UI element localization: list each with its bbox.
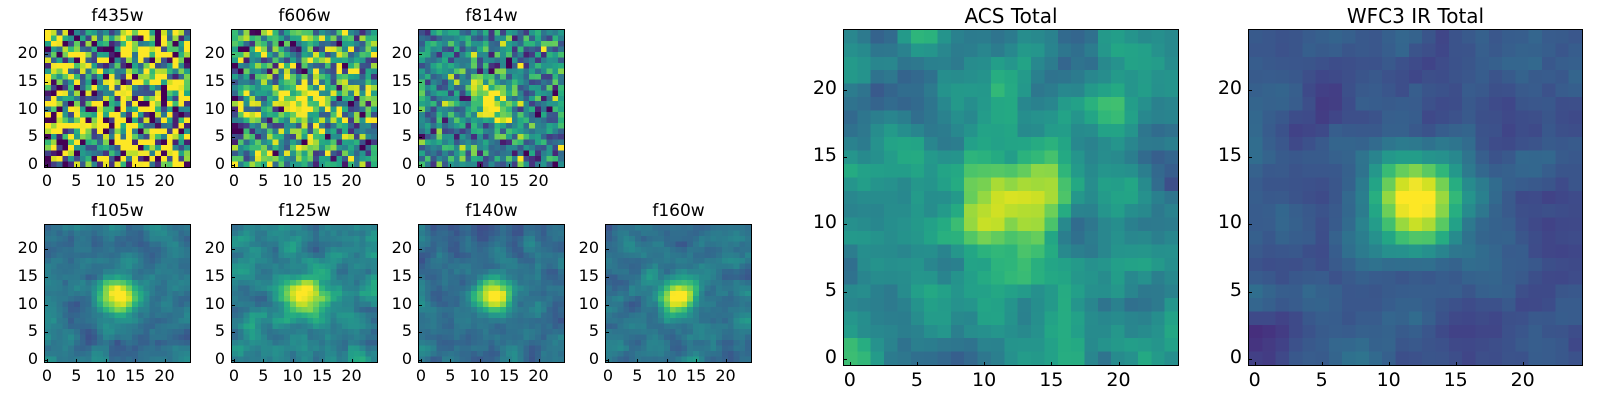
y-tick-f140w-4 bbox=[418, 249, 422, 250]
panel-f814w: f814w0510152005101520 bbox=[418, 6, 565, 168]
panel-title-wfc3-ir-total: WFC3 IR Total bbox=[1248, 4, 1583, 28]
x-tick-f814w-3 bbox=[509, 164, 510, 168]
x-tick-label-f105w-4: 20 bbox=[145, 366, 185, 385]
y-tick-label-f814w-2: 10 bbox=[370, 99, 412, 118]
panel-f140w: f140w0510152005101520 bbox=[418, 201, 565, 363]
y-tick-f105w-4 bbox=[44, 249, 48, 250]
x-tick-f606w-4 bbox=[352, 164, 353, 168]
plot-area-f435w bbox=[44, 29, 191, 168]
y-tick-label-f105w-2: 10 bbox=[0, 294, 38, 313]
x-tick-acs-total-0 bbox=[850, 362, 851, 366]
panel-f435w: f435w0510152005101520 bbox=[44, 6, 191, 168]
y-tick-f140w-0 bbox=[418, 360, 422, 361]
y-tick-label-f160w-1: 5 bbox=[557, 321, 599, 340]
y-tick-label-f125w-3: 15 bbox=[183, 266, 225, 285]
x-tick-label-wfc3-ir-total-3: 15 bbox=[1436, 369, 1476, 391]
x-tick-f140w-3 bbox=[509, 359, 510, 363]
y-tick-label-acs-total-2: 10 bbox=[795, 211, 837, 233]
x-tick-acs-total-3 bbox=[1051, 362, 1052, 366]
x-tick-f606w-2 bbox=[293, 164, 294, 168]
y-tick-label-f125w-4: 20 bbox=[183, 238, 225, 257]
y-tick-label-f814w-4: 20 bbox=[370, 43, 412, 62]
x-tick-wfc3-ir-total-0 bbox=[1255, 362, 1256, 366]
x-tick-f160w-4 bbox=[726, 359, 727, 363]
y-tick-f814w-2 bbox=[418, 110, 422, 111]
y-tick-label-f160w-3: 15 bbox=[557, 266, 599, 285]
y-tick-f814w-4 bbox=[418, 54, 422, 55]
y-tick-label-wfc3-ir-total-1: 5 bbox=[1200, 279, 1242, 301]
x-tick-f435w-2 bbox=[106, 164, 107, 168]
y-tick-f160w-3 bbox=[605, 277, 609, 278]
y-tick-f606w-3 bbox=[231, 82, 235, 83]
x-tick-label-acs-total-1: 5 bbox=[897, 369, 937, 391]
y-tick-f435w-0 bbox=[44, 165, 48, 166]
y-tick-f814w-0 bbox=[418, 165, 422, 166]
y-tick-label-f105w-0: 0 bbox=[0, 349, 38, 368]
y-tick-wfc3-ir-total-2 bbox=[1248, 224, 1252, 225]
x-tick-wfc3-ir-total-2 bbox=[1389, 362, 1390, 366]
y-tick-f814w-1 bbox=[418, 137, 422, 138]
heatmap-image-acs-total bbox=[844, 30, 1178, 365]
panel-f105w: f105w0510152005101520 bbox=[44, 201, 191, 363]
y-tick-label-f435w-3: 15 bbox=[0, 71, 38, 90]
x-tick-wfc3-ir-total-3 bbox=[1456, 362, 1457, 366]
y-tick-label-f606w-2: 10 bbox=[183, 99, 225, 118]
y-tick-label-f105w-3: 15 bbox=[0, 266, 38, 285]
y-tick-label-f160w-2: 10 bbox=[557, 294, 599, 313]
y-tick-f606w-1 bbox=[231, 137, 235, 138]
x-tick-f105w-2 bbox=[106, 359, 107, 363]
y-tick-wfc3-ir-total-3 bbox=[1248, 157, 1252, 158]
y-tick-f140w-3 bbox=[418, 277, 422, 278]
panel-title-f814w: f814w bbox=[418, 6, 565, 26]
y-tick-f160w-0 bbox=[605, 360, 609, 361]
panel-acs-total: ACS Total0510152005101520 bbox=[843, 4, 1179, 366]
plot-area-f160w bbox=[605, 224, 752, 363]
y-tick-f160w-4 bbox=[605, 249, 609, 250]
y-tick-label-f125w-2: 10 bbox=[183, 294, 225, 313]
x-tick-f160w-1 bbox=[637, 359, 638, 363]
y-tick-f140w-2 bbox=[418, 305, 422, 306]
x-tick-f606w-1 bbox=[263, 164, 264, 168]
y-tick-label-f814w-0: 0 bbox=[370, 154, 412, 173]
heatmap-image-f814w bbox=[419, 30, 564, 167]
x-tick-f125w-2 bbox=[293, 359, 294, 363]
y-tick-label-f435w-2: 10 bbox=[0, 99, 38, 118]
y-tick-f435w-3 bbox=[44, 82, 48, 83]
panel-title-f105w: f105w bbox=[44, 201, 191, 221]
x-tick-label-f814w-4: 20 bbox=[519, 171, 559, 190]
y-tick-f125w-4 bbox=[231, 249, 235, 250]
x-tick-f125w-4 bbox=[352, 359, 353, 363]
plot-area-f606w bbox=[231, 29, 378, 168]
y-tick-label-f105w-1: 5 bbox=[0, 321, 38, 340]
x-tick-f435w-1 bbox=[76, 164, 77, 168]
x-tick-label-wfc3-ir-total-2: 10 bbox=[1369, 369, 1409, 391]
y-tick-wfc3-ir-total-1 bbox=[1248, 292, 1252, 293]
y-tick-f160w-2 bbox=[605, 305, 609, 306]
figure-canvas: f435w0510152005101520f606w05101520051015… bbox=[0, 0, 1600, 400]
y-tick-f606w-2 bbox=[231, 110, 235, 111]
y-tick-f125w-1 bbox=[231, 332, 235, 333]
y-tick-f435w-1 bbox=[44, 137, 48, 138]
panel-title-f606w: f606w bbox=[231, 6, 378, 26]
x-tick-label-wfc3-ir-total-1: 5 bbox=[1302, 369, 1342, 391]
y-tick-f125w-2 bbox=[231, 305, 235, 306]
x-tick-label-f140w-4: 20 bbox=[519, 366, 559, 385]
y-tick-acs-total-3 bbox=[843, 157, 847, 158]
y-tick-f125w-3 bbox=[231, 277, 235, 278]
x-tick-f140w-1 bbox=[450, 359, 451, 363]
y-tick-f160w-1 bbox=[605, 332, 609, 333]
y-tick-label-f606w-1: 5 bbox=[183, 126, 225, 145]
y-tick-label-wfc3-ir-total-0: 0 bbox=[1200, 346, 1242, 368]
x-tick-f435w-4 bbox=[165, 164, 166, 168]
y-tick-label-acs-total-4: 20 bbox=[795, 77, 837, 99]
y-tick-label-f435w-0: 0 bbox=[0, 154, 38, 173]
x-tick-label-f125w-4: 20 bbox=[332, 366, 372, 385]
y-tick-f606w-0 bbox=[231, 165, 235, 166]
plot-area-acs-total bbox=[843, 29, 1179, 366]
x-tick-f105w-3 bbox=[135, 359, 136, 363]
y-tick-f105w-2 bbox=[44, 305, 48, 306]
y-tick-label-f140w-3: 15 bbox=[370, 266, 412, 285]
x-tick-label-acs-total-0: 0 bbox=[830, 369, 870, 391]
x-tick-label-f160w-4: 20 bbox=[706, 366, 746, 385]
x-tick-f435w-3 bbox=[135, 164, 136, 168]
x-tick-f125w-3 bbox=[322, 359, 323, 363]
heatmap-image-f435w bbox=[45, 30, 190, 167]
x-tick-f814w-1 bbox=[450, 164, 451, 168]
y-tick-label-acs-total-0: 0 bbox=[795, 346, 837, 368]
plot-area-f814w bbox=[418, 29, 565, 168]
y-tick-wfc3-ir-total-4 bbox=[1248, 90, 1252, 91]
x-tick-f160w-3 bbox=[696, 359, 697, 363]
heatmap-image-f606w bbox=[232, 30, 377, 167]
y-tick-label-f125w-0: 0 bbox=[183, 349, 225, 368]
y-tick-label-f140w-4: 20 bbox=[370, 238, 412, 257]
y-tick-label-f140w-0: 0 bbox=[370, 349, 412, 368]
x-tick-f105w-4 bbox=[165, 359, 166, 363]
y-tick-label-f606w-4: 20 bbox=[183, 43, 225, 62]
y-tick-f105w-1 bbox=[44, 332, 48, 333]
x-tick-f160w-2 bbox=[667, 359, 668, 363]
panel-title-f160w: f160w bbox=[605, 201, 752, 221]
x-tick-f125w-1 bbox=[263, 359, 264, 363]
y-tick-f140w-1 bbox=[418, 332, 422, 333]
y-tick-acs-total-0 bbox=[843, 359, 847, 360]
x-tick-acs-total-2 bbox=[984, 362, 985, 366]
x-tick-label-acs-total-4: 20 bbox=[1099, 369, 1139, 391]
plot-area-f140w bbox=[418, 224, 565, 363]
x-tick-f814w-4 bbox=[539, 164, 540, 168]
y-tick-label-f435w-4: 20 bbox=[0, 43, 38, 62]
plot-area-f125w bbox=[231, 224, 378, 363]
y-tick-label-wfc3-ir-total-3: 15 bbox=[1200, 144, 1242, 166]
y-tick-label-f435w-1: 5 bbox=[0, 126, 38, 145]
x-tick-wfc3-ir-total-4 bbox=[1523, 362, 1524, 366]
x-tick-f105w-1 bbox=[76, 359, 77, 363]
heatmap-image-f140w bbox=[419, 225, 564, 362]
x-tick-acs-total-1 bbox=[917, 362, 918, 366]
y-tick-label-f814w-1: 5 bbox=[370, 126, 412, 145]
heatmap-image-f125w bbox=[232, 225, 377, 362]
y-tick-label-f814w-3: 15 bbox=[370, 71, 412, 90]
y-tick-wfc3-ir-total-0 bbox=[1248, 359, 1252, 360]
panel-f160w: f160w0510152005101520 bbox=[605, 201, 752, 363]
y-tick-f435w-4 bbox=[44, 54, 48, 55]
y-tick-label-acs-total-1: 5 bbox=[795, 279, 837, 301]
y-tick-f105w-0 bbox=[44, 360, 48, 361]
y-tick-label-acs-total-3: 15 bbox=[795, 144, 837, 166]
y-tick-label-f140w-1: 5 bbox=[370, 321, 412, 340]
y-tick-acs-total-2 bbox=[843, 224, 847, 225]
x-tick-f814w-2 bbox=[480, 164, 481, 168]
plot-area-wfc3-ir-total bbox=[1248, 29, 1583, 366]
x-tick-f140w-2 bbox=[480, 359, 481, 363]
y-tick-f105w-3 bbox=[44, 277, 48, 278]
panel-f125w: f125w0510152005101520 bbox=[231, 201, 378, 363]
x-tick-label-f606w-4: 20 bbox=[332, 171, 372, 190]
x-tick-label-wfc3-ir-total-0: 0 bbox=[1235, 369, 1275, 391]
panel-title-f140w: f140w bbox=[418, 201, 565, 221]
y-tick-label-f125w-1: 5 bbox=[183, 321, 225, 340]
y-tick-label-f105w-4: 20 bbox=[0, 238, 38, 257]
y-tick-label-f160w-0: 0 bbox=[557, 349, 599, 368]
y-tick-label-wfc3-ir-total-4: 20 bbox=[1200, 77, 1242, 99]
x-tick-label-wfc3-ir-total-4: 20 bbox=[1503, 369, 1543, 391]
y-tick-f435w-2 bbox=[44, 110, 48, 111]
y-tick-label-f160w-4: 20 bbox=[557, 238, 599, 257]
y-tick-acs-total-4 bbox=[843, 90, 847, 91]
y-tick-label-wfc3-ir-total-2: 10 bbox=[1200, 211, 1242, 233]
x-tick-label-acs-total-3: 15 bbox=[1031, 369, 1071, 391]
y-tick-label-f606w-3: 15 bbox=[183, 71, 225, 90]
x-tick-wfc3-ir-total-1 bbox=[1322, 362, 1323, 366]
heatmap-image-wfc3-ir-total bbox=[1249, 30, 1582, 365]
heatmap-image-f160w bbox=[606, 225, 751, 362]
x-tick-f140w-4 bbox=[539, 359, 540, 363]
x-tick-f606w-3 bbox=[322, 164, 323, 168]
x-tick-acs-total-4 bbox=[1119, 362, 1120, 366]
panel-title-acs-total: ACS Total bbox=[843, 4, 1179, 28]
y-tick-f606w-4 bbox=[231, 54, 235, 55]
y-tick-f814w-3 bbox=[418, 82, 422, 83]
y-tick-acs-total-1 bbox=[843, 292, 847, 293]
y-tick-label-f606w-0: 0 bbox=[183, 154, 225, 173]
heatmap-image-f105w bbox=[45, 225, 190, 362]
y-tick-label-f140w-2: 10 bbox=[370, 294, 412, 313]
panel-title-f125w: f125w bbox=[231, 201, 378, 221]
y-tick-f125w-0 bbox=[231, 360, 235, 361]
x-tick-label-acs-total-2: 10 bbox=[964, 369, 1004, 391]
panel-title-f435w: f435w bbox=[44, 6, 191, 26]
panel-wfc3-ir-total: WFC3 IR Total0510152005101520 bbox=[1248, 4, 1583, 366]
x-tick-label-f435w-4: 20 bbox=[145, 171, 185, 190]
panel-f606w: f606w0510152005101520 bbox=[231, 6, 378, 168]
plot-area-f105w bbox=[44, 224, 191, 363]
